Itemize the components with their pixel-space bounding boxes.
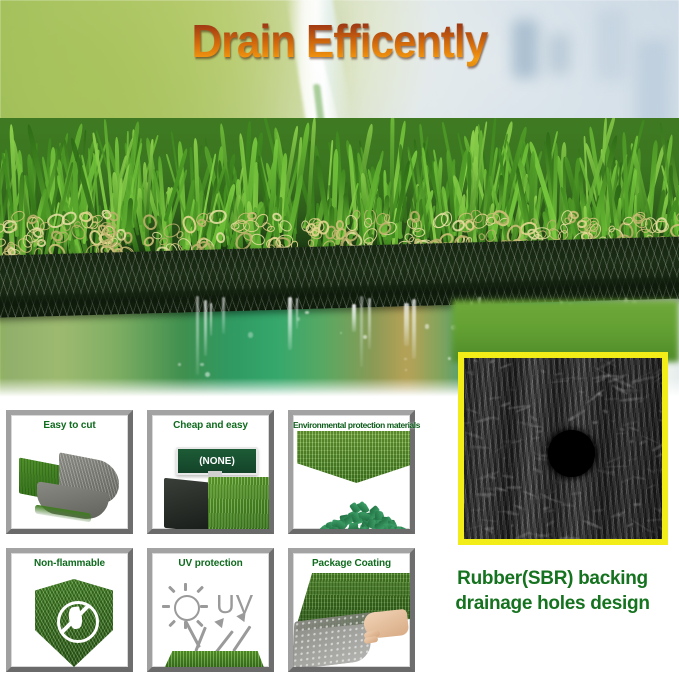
card-title: Non-flammable xyxy=(11,558,128,569)
backing-caption: Rubber(SBR) backing drainage holes desig… xyxy=(430,566,675,616)
sun-ray xyxy=(168,620,175,627)
card-title: Easy to cut xyxy=(11,420,128,431)
feature-card-eco-materials[interactable]: Environmental protection materials xyxy=(288,410,415,534)
feature-card-easy-to-cut[interactable]: Easy to cut xyxy=(6,410,133,534)
feature-card-grid: Easy to cut Cheap and easy (NONE) xyxy=(6,410,416,672)
turf-surface xyxy=(162,651,266,667)
card-image-package-coating xyxy=(293,569,410,667)
card-title: Package Coating xyxy=(293,558,410,569)
finger xyxy=(364,636,379,644)
page-title: Drain Efficently xyxy=(27,14,652,68)
green-turf-mat xyxy=(208,477,269,529)
prohibition-ring-icon xyxy=(57,601,99,643)
sun-ray xyxy=(168,586,175,593)
card-image-none-plaque: (NONE) xyxy=(152,431,269,529)
card-image-rolled-turf xyxy=(11,431,128,529)
uv-reflect-ray xyxy=(232,625,251,651)
plastic-pellets xyxy=(311,493,403,529)
card-image-uv: UV xyxy=(152,569,269,667)
feature-card-package-coating[interactable]: Package Coating xyxy=(288,548,415,672)
feature-card-cheap-and-easy[interactable]: Cheap and easy (NONE) xyxy=(147,410,274,534)
card-title: UV protection xyxy=(152,558,269,569)
card-image-eco-materials xyxy=(293,431,410,529)
sun-ray xyxy=(184,583,187,591)
dimpled-backing xyxy=(293,612,372,667)
caption-line-2: drainage holes design xyxy=(430,591,675,616)
sun-ray xyxy=(200,605,208,608)
sun-ray xyxy=(196,586,203,593)
sun-ray xyxy=(196,620,203,627)
drainage-hole xyxy=(548,430,595,477)
sun-icon xyxy=(174,595,200,621)
turf-tile xyxy=(297,431,410,483)
card-title: Environmental protection materials xyxy=(293,420,410,430)
feature-card-non-flammable[interactable]: Non-flammable xyxy=(6,548,133,672)
card-image-shield xyxy=(11,569,128,667)
product-marketing-image: Drain Efficently Easy to cut Cheap and e… xyxy=(0,0,679,679)
feature-card-uv-protection[interactable]: UV protection UV xyxy=(147,548,274,672)
sun-ray xyxy=(162,605,170,608)
uv-reflect-ray xyxy=(214,630,233,654)
caption-line-1: Rubber(SBR) backing xyxy=(430,566,675,591)
card-title: Cheap and easy xyxy=(152,420,269,431)
